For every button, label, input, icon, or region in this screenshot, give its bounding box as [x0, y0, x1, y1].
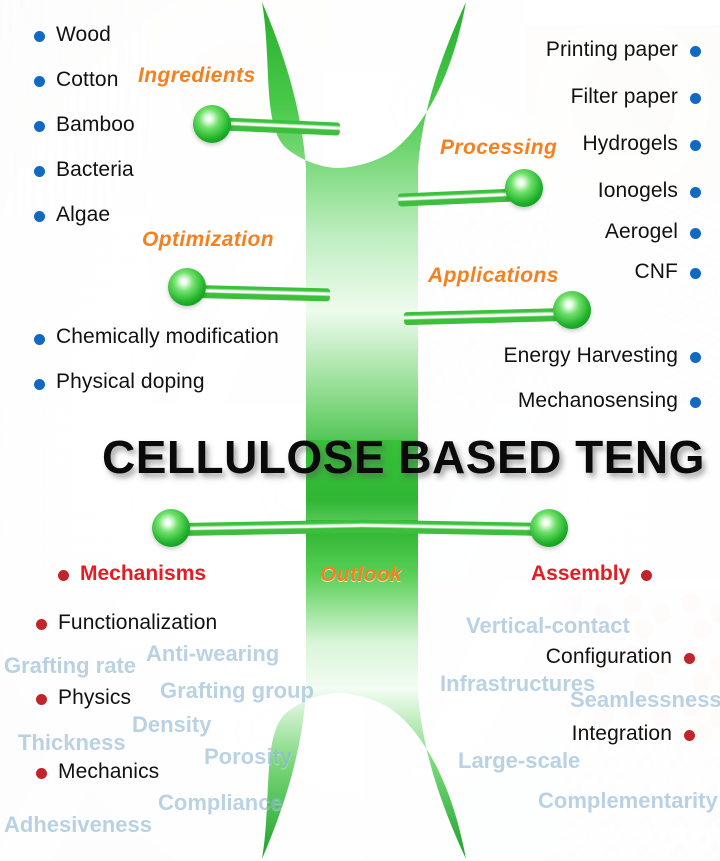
stage-label-optimization: Optimization [142, 228, 274, 252]
funnel-top [262, 2, 466, 470]
list-item: Printing paper [546, 38, 678, 62]
list-item: CNF [635, 260, 678, 284]
list-item: Energy Harvesting [504, 344, 678, 368]
connector-ball [193, 105, 231, 143]
list-item: Cotton [56, 68, 118, 92]
ghost-keyword: Complementarity [538, 788, 718, 814]
list-item: Aerogel [605, 220, 678, 244]
bullet-dot [36, 619, 47, 630]
ghost-keyword: Seamlessness [570, 687, 720, 713]
page-title: CELLULOSE BASED TENG [102, 430, 705, 484]
list-item: Mechanosensing [518, 389, 678, 413]
bullet-dot [690, 268, 701, 279]
bullet-dot [690, 46, 701, 57]
connector-stem [360, 520, 550, 536]
stage-label-ingredients: Ingredients [138, 64, 256, 88]
ghost-keyword: Thickness [18, 730, 126, 756]
connector-ball [505, 169, 543, 207]
list-item: Algae [56, 203, 110, 227]
bg-tile-foam [420, 205, 550, 405]
bullet-dot [684, 730, 695, 741]
bullet-dot [58, 570, 69, 581]
section-label-mechanisms: Mechanisms [80, 562, 206, 586]
list-item: Physical doping [56, 370, 205, 394]
bg-tile-bamboo [150, 0, 325, 215]
ghost-keyword: Compliance [158, 790, 283, 816]
ghost-keyword: Porosity [204, 744, 292, 770]
list-item: Configuration [546, 645, 672, 669]
section-label-assembly: Assembly [531, 562, 630, 586]
bullet-dot [684, 653, 695, 664]
bullet-dot [34, 211, 45, 222]
list-item: Chemically modification [56, 325, 279, 349]
stage-label-applications: Applications [428, 264, 559, 288]
list-item: Integration [572, 722, 672, 746]
connector-stem [212, 117, 340, 136]
bullet-dot [34, 379, 45, 390]
bullet-dot [690, 352, 701, 363]
connector-ball [152, 509, 190, 547]
list-item: Filter paper [571, 85, 678, 109]
connector-stem [398, 188, 526, 207]
connector-stem [404, 308, 564, 325]
ghost-keyword: Large-scale [458, 748, 580, 774]
list-item: Bamboo [56, 113, 135, 137]
list-item: Physics [58, 686, 131, 710]
bullet-dot [34, 121, 45, 132]
poster-graphical-abstract: Ingredients Processing Optimization Appl… [0, 0, 720, 861]
ghost-keyword: Grafting group [160, 678, 314, 704]
bullet-dot [36, 768, 47, 779]
bullet-dot [34, 76, 45, 87]
bg-tile-bacteria [325, 0, 525, 215]
bullet-dot [690, 187, 701, 198]
ghost-keyword: Grafting rate [4, 653, 136, 679]
bullet-dot [34, 31, 45, 42]
bullet-dot [690, 228, 701, 239]
connector-ball [553, 291, 591, 329]
list-item: Hydrogels [583, 132, 678, 156]
list-item: Bacteria [56, 158, 134, 182]
list-item: Wood [56, 23, 111, 47]
bullet-dot [34, 166, 45, 177]
bullet-dot [690, 93, 701, 104]
bullet-dot [34, 334, 45, 345]
list-item: Mechanics [58, 760, 159, 784]
connector-ball [530, 509, 568, 547]
ghost-keyword: Anti-wearing [146, 641, 279, 667]
connector-ball [168, 268, 206, 306]
connector-stem [178, 520, 368, 536]
bullet-dot [690, 397, 701, 408]
ghost-keyword: Adhesiveness [4, 812, 152, 838]
list-item: Ionogels [598, 179, 678, 203]
bullet-dot [36, 694, 47, 705]
stage-label-processing: Processing [440, 136, 557, 160]
stage-label-outlook: Outlook [320, 563, 402, 587]
ghost-keyword: Density [132, 712, 211, 738]
bullet-dot [690, 140, 701, 151]
connector-stem [198, 285, 330, 301]
list-item: Functionalization [58, 611, 217, 635]
ghost-keyword: Vertical-contact [466, 613, 630, 639]
bullet-dot [641, 570, 652, 581]
